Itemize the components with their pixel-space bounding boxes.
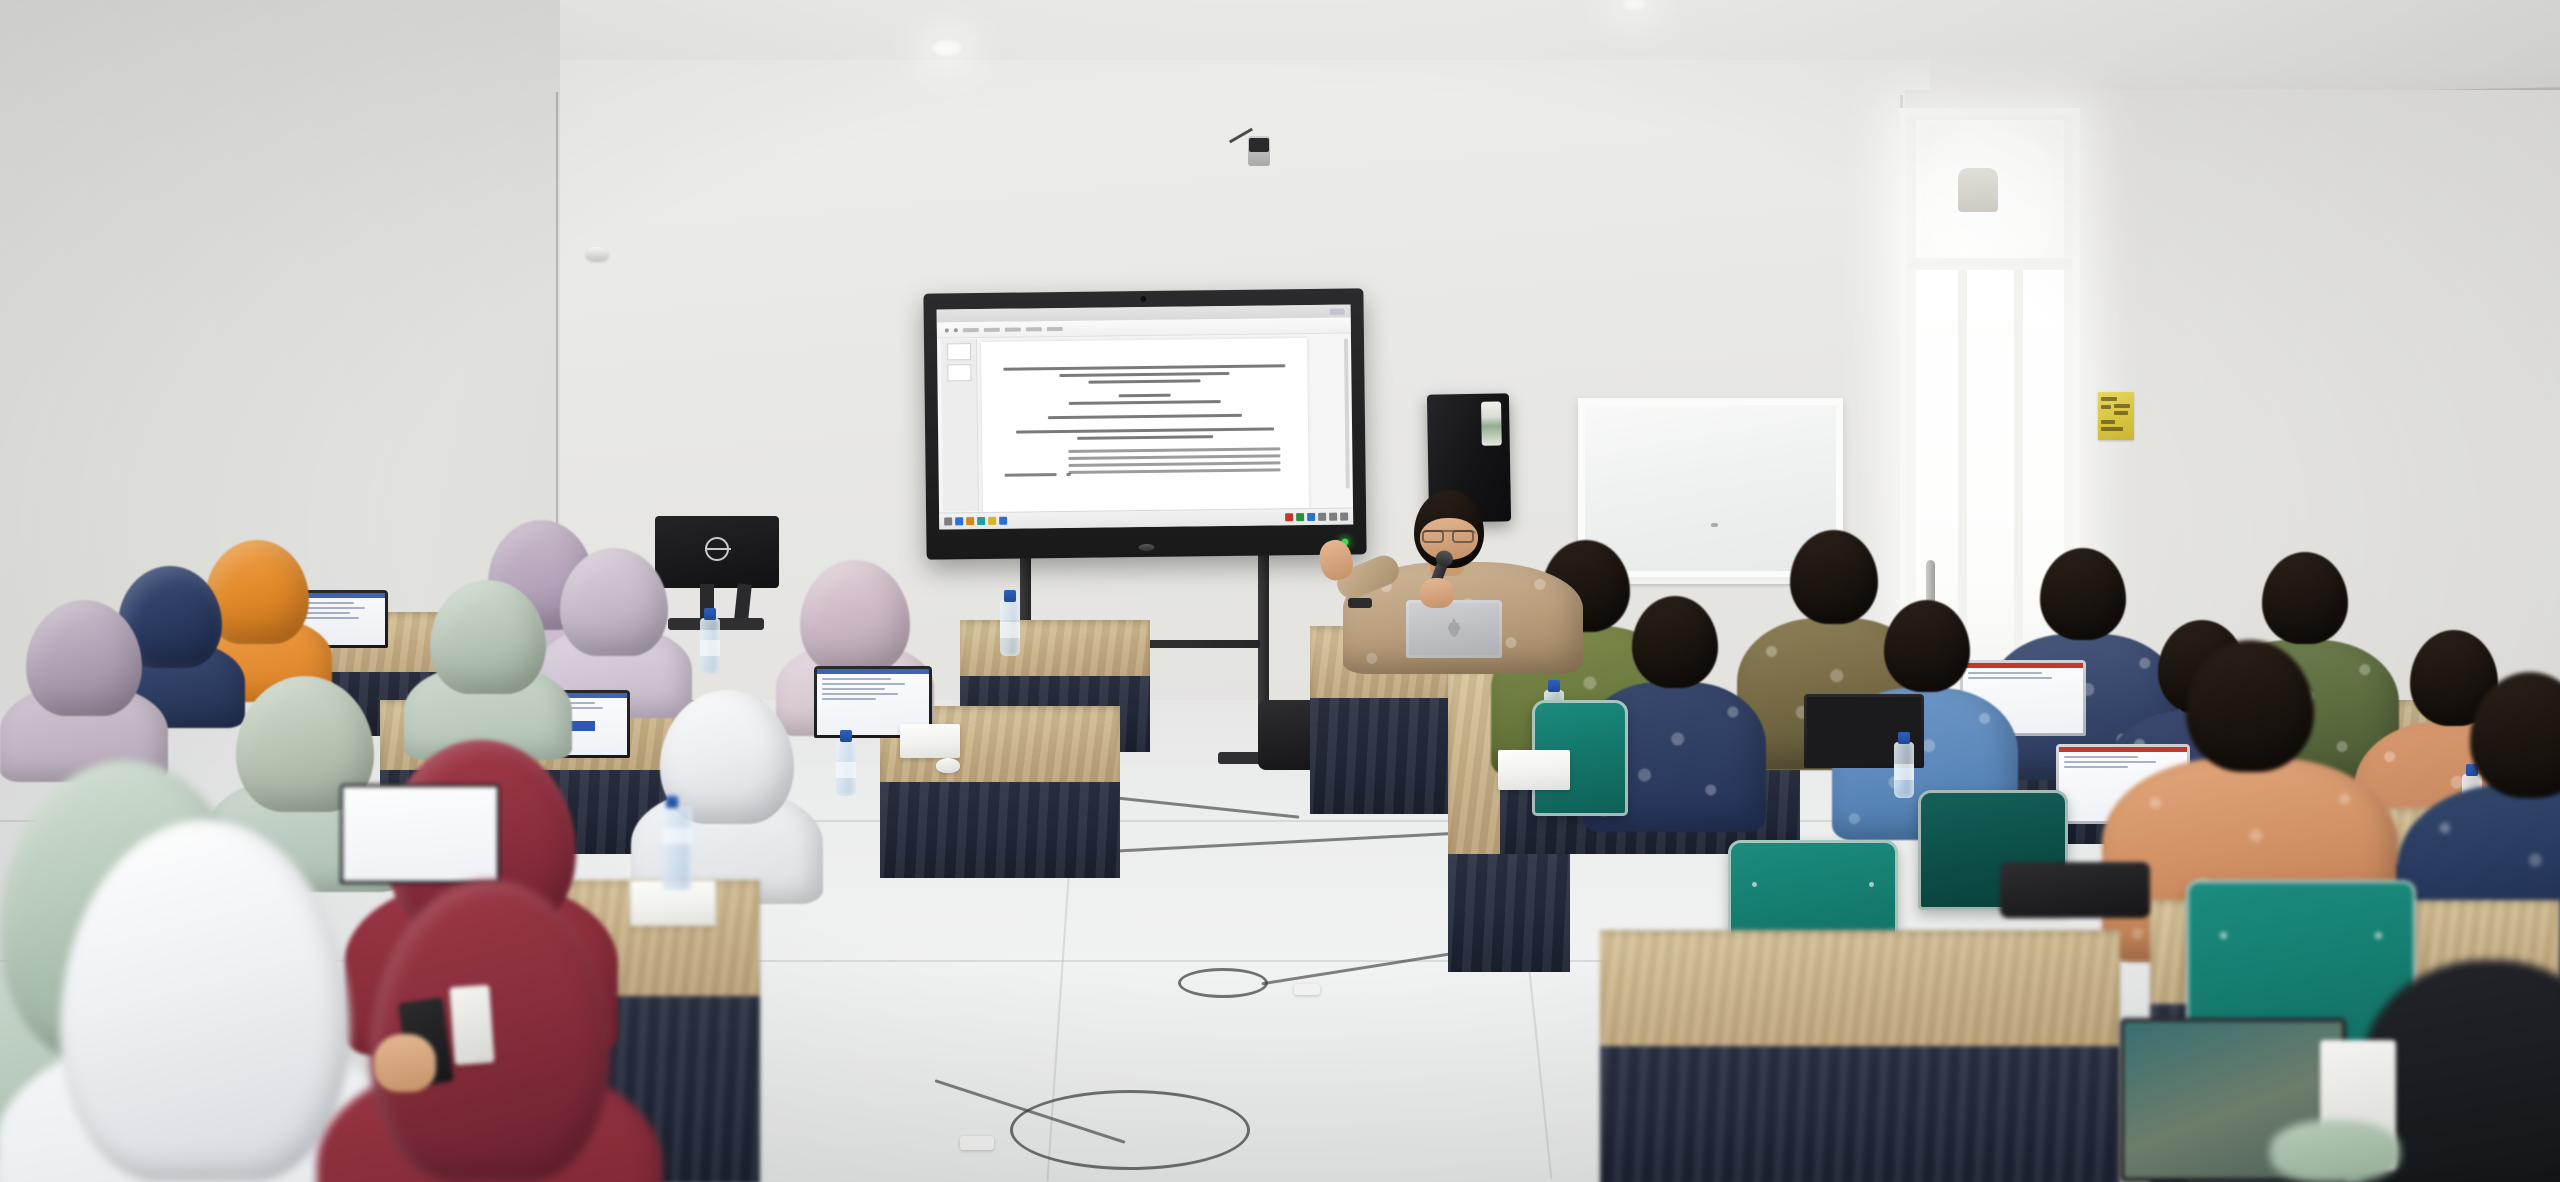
document-page[interactable] (981, 338, 1309, 514)
doc-body-paragraph (998, 447, 1292, 475)
ribbon-back-icon[interactable] (945, 328, 949, 332)
floor-cable-loop (1010, 1090, 1250, 1170)
window-sill-object (1958, 168, 1998, 212)
page-thumbnail[interactable] (947, 364, 971, 381)
ribbon-tab[interactable] (963, 328, 979, 332)
hijab (430, 580, 546, 694)
hijab (560, 548, 668, 656)
camera-bag (2000, 862, 2150, 918)
doc-side-label (1005, 473, 1057, 477)
styrofoam-box (1498, 750, 1570, 790)
doc-body-line (1068, 454, 1280, 460)
hijab (800, 560, 910, 672)
volume-icon[interactable] (1340, 513, 1348, 521)
document-title-text (1330, 308, 1345, 314)
window-transom-bar (1908, 258, 2072, 267)
floor-cable-loop (1178, 968, 1268, 998)
doc-heading-line (1118, 394, 1171, 398)
water-bottle (1000, 600, 1020, 656)
screen-row (822, 688, 885, 690)
ribbon-tab[interactable] (1047, 326, 1063, 330)
doc-heading-line (1003, 364, 1285, 370)
table-cloth (960, 620, 1150, 678)
power-strip (1294, 984, 1320, 995)
table-cloth (1600, 930, 2120, 1050)
water-bottle (700, 618, 720, 674)
laptop-lid (340, 784, 500, 884)
doc-body-line (1068, 447, 1280, 453)
ribbon-tab[interactable] (984, 327, 1000, 331)
hijab (26, 600, 142, 716)
excel-icon[interactable] (1296, 513, 1304, 521)
power-strip (960, 1136, 994, 1150)
doc-heading-line (1059, 372, 1230, 377)
apple-logo-icon (1446, 618, 1462, 637)
table (1600, 930, 2120, 1182)
attendee-foreground (60, 820, 350, 1182)
computer-mouse[interactable] (936, 758, 960, 773)
display-screen[interactable] (937, 304, 1354, 529)
app-header-bar (817, 669, 929, 674)
whiteboard-smudge (1711, 523, 1718, 527)
attendee-head (2040, 548, 2126, 640)
water-bottle (662, 806, 692, 890)
cctv-camera-icon (1248, 136, 1270, 166)
presenter-hand-mic (1420, 578, 1454, 608)
browser-icon[interactable] (966, 517, 974, 525)
mail-icon[interactable] (977, 517, 985, 525)
wristwatch-icon (1348, 598, 1372, 608)
attendee (800, 560, 910, 672)
attendee-head (2470, 672, 2560, 798)
word-icon[interactable] (999, 517, 1007, 525)
styrofoam-box (900, 724, 960, 758)
table-skirt (880, 782, 1120, 878)
doc-body-line (1068, 461, 1280, 467)
display-brand-logo-icon (1138, 544, 1154, 551)
interactive-display[interactable] (923, 288, 1366, 559)
dell-logo-icon (705, 537, 729, 561)
network-icon[interactable] (1329, 513, 1337, 521)
attendee (430, 580, 546, 694)
document-scrollbar[interactable] (1344, 339, 1350, 489)
smartphone-white[interactable] (449, 985, 494, 1066)
hand (2270, 1120, 2400, 1182)
wall-hook-icon (586, 247, 608, 260)
attendee-head (1632, 596, 1718, 688)
media-icon[interactable] (1285, 513, 1293, 521)
chair-stud (1869, 882, 1874, 887)
attendee-head (2262, 552, 2348, 644)
chat-icon[interactable] (1307, 513, 1315, 521)
laptop-screen[interactable] (343, 787, 497, 881)
ceiling-downlight-left-icon (930, 38, 964, 58)
hand (374, 1034, 436, 1092)
hijab (660, 690, 794, 824)
settings-icon[interactable] (1318, 513, 1326, 521)
screen-row (300, 607, 365, 609)
screen-row (822, 678, 891, 680)
attendee (660, 690, 794, 824)
thumbnail-pane[interactable] (941, 339, 979, 511)
table-skirt (1600, 1046, 2120, 1182)
water-bottle (1894, 742, 1914, 798)
taskbar[interactable] (939, 507, 1353, 529)
pa-speaker-badge (1481, 401, 1502, 445)
screen-row (822, 693, 898, 695)
ribbon-tab[interactable] (1005, 327, 1021, 331)
screen-row (822, 683, 905, 685)
chair-stud (2375, 932, 2382, 939)
folder-icon[interactable] (988, 517, 996, 525)
presenter-laptop[interactable] (1406, 600, 1502, 658)
laptop-lid-surface (1409, 603, 1499, 655)
screen-highlight-cell (569, 721, 595, 731)
start-icon[interactable] (944, 517, 952, 525)
chair-stud (2220, 932, 2227, 939)
page-thumbnail[interactable] (947, 343, 971, 360)
attendee (1612, 596, 1736, 822)
attendee-laptop[interactable] (340, 784, 500, 884)
ribbon-forward-icon[interactable] (954, 328, 958, 332)
doc-heading-line (1089, 379, 1201, 383)
laptop-lid (1406, 600, 1502, 658)
desktop-monitor (655, 516, 779, 588)
doc-heading-line (1078, 435, 1213, 440)
ribbon-tab[interactable] (1026, 327, 1042, 331)
photo-scene (0, 0, 2560, 1182)
doc-body-line (1069, 468, 1281, 474)
attendee-head (1884, 600, 1970, 692)
file-explorer-icon[interactable] (955, 517, 963, 525)
attendee-foreground (2400, 900, 2560, 1182)
chair-stud (1752, 882, 1757, 887)
attendee (560, 548, 668, 656)
doc-heading-line (1068, 400, 1221, 405)
yellow-wall-sticker-icon (2098, 392, 2134, 440)
attendee (26, 600, 142, 716)
glasses-lens-right-icon (1452, 530, 1474, 543)
attendee-head (2186, 640, 2314, 772)
hijab (60, 820, 350, 1182)
water-bottle (836, 740, 856, 796)
display-camera-icon (1140, 296, 1146, 302)
screen-row (822, 698, 876, 700)
table-skirt (1448, 854, 1570, 972)
glasses-lens-left-icon (1422, 530, 1444, 543)
